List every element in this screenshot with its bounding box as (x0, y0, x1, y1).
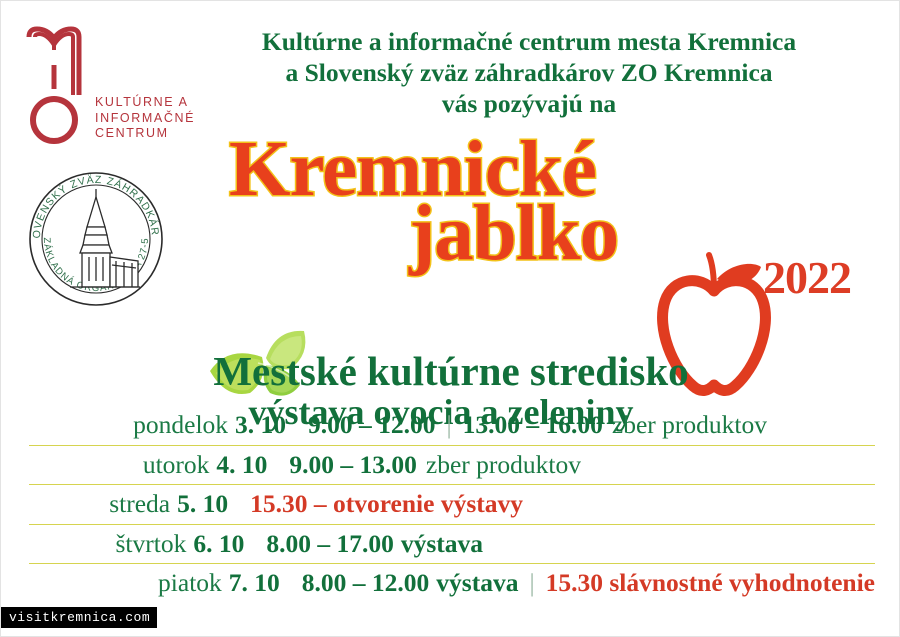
schedule-row: utorok 4. 10 9.00 – 13.00 zber produktov (29, 446, 875, 486)
schedule-description-bold: výstava (436, 568, 518, 598)
header-line-1: Kultúrne a informačné centrum mesta Krem… (179, 26, 879, 57)
schedule-table: pondelok 3. 10 9.00 – 12.00 | 13.00 – 16… (29, 406, 875, 603)
schedule-date: 6. 10 (193, 529, 244, 559)
venue-name: Mestské kultúrne stredisko (1, 347, 900, 395)
schedule-separator: | (447, 410, 452, 440)
schedule-day: utorok (143, 450, 210, 480)
kic-logo-line1: KULTÚRNE A (95, 95, 189, 109)
schedule-row: štvrtok 6. 10 8.00 – 17.00 výstava (29, 525, 875, 565)
header-line-3: vás pozývajú na (179, 88, 879, 119)
header-line-2: a Slovenský zväz záhradkárov ZO Kremnica (179, 57, 879, 88)
schedule-times: 9.00 – 13.00 (289, 450, 417, 480)
year-label: 2022 (763, 251, 851, 304)
schedule-times: 9.00 – 12.00 (308, 410, 436, 440)
schedule-highlight-text: 15.30 – otvorenie výstavy (250, 489, 523, 519)
poster-canvas: KULTÚRNE A INFORMAČNÉ CENTRUM SLOVENSKÝ … (0, 0, 900, 637)
schedule-times-second: 13.00 – 16.00 (463, 410, 603, 440)
schedule-separator: | (529, 568, 534, 598)
schedule-description-bold: výstava (401, 529, 483, 559)
header-invitation-text: Kultúrne a informačné centrum mesta Krem… (179, 26, 879, 119)
title-line-jablko: jablko (409, 195, 618, 273)
schedule-row: pondelok 3. 10 9.00 – 12.00 | 13.00 – 16… (29, 406, 875, 446)
schedule-date: 5. 10 (177, 489, 228, 519)
schedule-date: 7. 10 (229, 568, 280, 598)
schedule-day: štvrtok (115, 529, 186, 559)
schedule-highlight-text: 15.30 slávnostné vyhodnotenie (546, 568, 875, 598)
schedule-times: 8.00 – 17.00 (266, 529, 394, 559)
schedule-times: 8.00 – 12.00 (302, 568, 430, 598)
schedule-day: streda (109, 489, 170, 519)
schedule-description: zber produktov (612, 410, 767, 440)
schedule-row: piatok 7. 10 8.00 – 12.00 výstava | 15.3… (29, 564, 875, 603)
schedule-day: piatok (158, 568, 222, 598)
schedule-day: pondelok (133, 410, 228, 440)
schedule-date: 4. 10 (216, 450, 267, 480)
schedule-row: streda 5. 10 15.30 – otvorenie výstavy (29, 485, 875, 525)
schedule-description: zber produktov (426, 450, 581, 480)
schedule-date: 3. 10 (235, 410, 286, 440)
title-block: Kremnické jablko 2022 výstava ovocia a z… (1, 129, 900, 314)
site-watermark: visitkremnica.com (1, 607, 157, 628)
